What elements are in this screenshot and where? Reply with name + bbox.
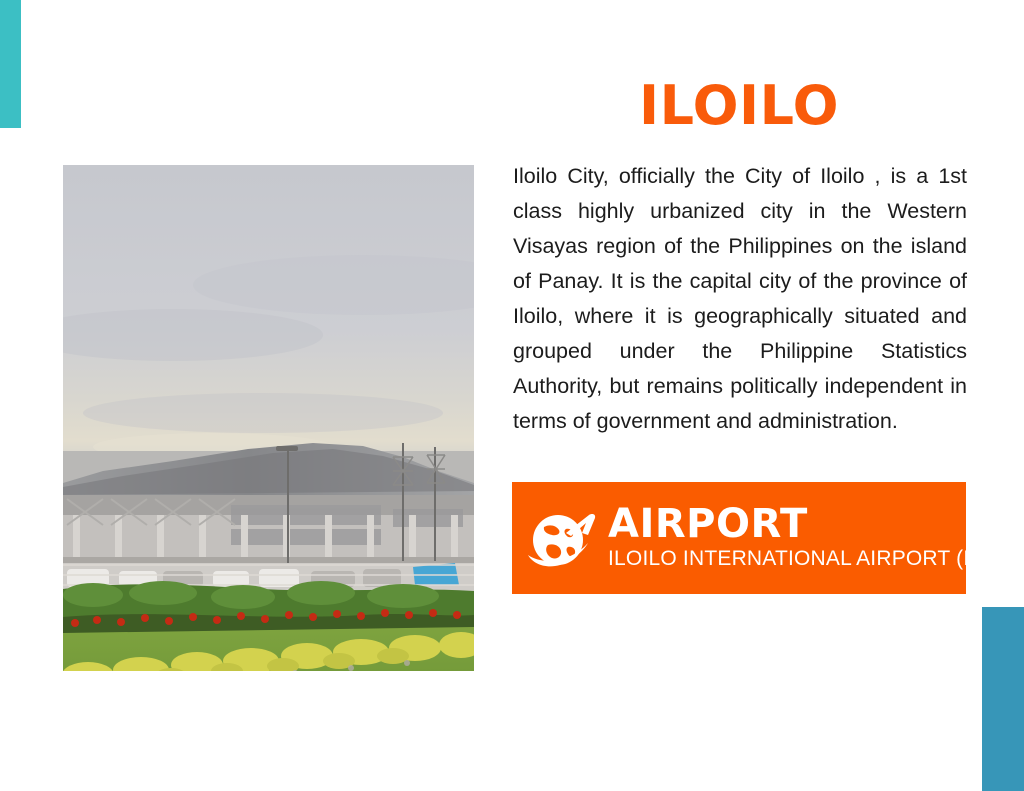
airport-name: ILOILO INTERNATIONAL AIRPORT (ILO — [608, 545, 966, 573]
bottom-right-accent-bar — [982, 607, 1024, 791]
airport-banner[interactable]: AIRPORT ILOILO INTERNATIONAL AIRPORT (IL… — [512, 482, 966, 594]
airport-photo-illustration — [63, 165, 474, 671]
airport-photo — [63, 165, 474, 671]
globe-airplane-glyph — [526, 503, 600, 573]
content-column: ILOILO Iloilo City, officially the City … — [512, 0, 966, 791]
page-title: ILOILO — [512, 76, 966, 136]
slide-canvas: ILOILO Iloilo City, officially the City … — [0, 0, 1024, 791]
airport-heading: AIRPORT — [608, 504, 966, 545]
airport-text-block: AIRPORT ILOILO INTERNATIONAL AIRPORT (IL… — [608, 504, 966, 573]
top-left-accent-bar — [0, 0, 21, 128]
globe-airplane-icon — [524, 500, 602, 576]
city-description: Iloilo City, officially the City of Iloi… — [513, 159, 967, 439]
